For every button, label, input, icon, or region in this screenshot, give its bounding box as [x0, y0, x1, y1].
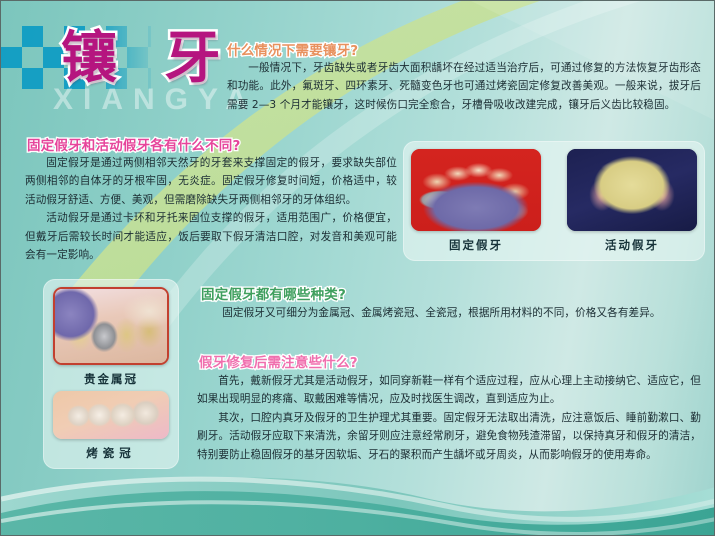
paragraph-text: 固定假牙是通过两侧相邻天然牙的牙套来支撑固定的假牙，要求缺失部位两侧相邻的自体牙… [25, 154, 397, 209]
photo-metal-crown [53, 287, 169, 365]
paragraph-text: 其次，口腔内真牙及假牙的卫生护理尤其重要。固定假牙无法取出清洗，应注意饭后、睡前… [197, 409, 701, 464]
photo-porcelain-crown [53, 391, 169, 439]
caption-fixed-denture: 固定假牙 [411, 237, 541, 253]
page-title: 镶 牙 [61, 31, 235, 87]
caption-removable-denture: 活动假牙 [567, 237, 697, 253]
photo-art [411, 149, 541, 231]
caption-metal-crown: 贵金属冠 [43, 371, 179, 387]
wave-back [1, 477, 715, 536]
paragraph-text: 固定假牙又可细分为金属冠、金属烤瓷冠、全瓷冠，根据所用材料的不同，价格又各有差异… [201, 304, 701, 322]
paragraph-text: 活动假牙是通过卡环和牙托来固位支撑的假牙，适用范围广，价格便宜，但戴牙后需较长时… [25, 209, 397, 264]
paragraph-text: 首先，戴新假牙尤其是活动假牙，如同穿新鞋一样有个适应过程，应从心理上主动接纳它、… [197, 372, 701, 409]
figure-panel-right: 固定假牙 活动假牙 [403, 141, 705, 261]
paragraph-when: 一般情况下，牙齿缺失或者牙齿大面积龋坏在经过适当治疗后，可通过修复的方法恢复牙齿… [227, 59, 701, 114]
paragraph-types: 固定假牙又可细分为金属冠、金属烤瓷冠、全瓷冠，根据所用材料的不同，价格又各有差异… [201, 304, 701, 322]
wave-line-2 [1, 502, 715, 534]
wave-mid [1, 491, 715, 536]
heading-difference: 固定假牙和活动假牙各有什么不同? [27, 134, 241, 154]
heading-types: 固定假牙都有哪些种类? [201, 283, 346, 303]
paragraph-aftercare: 首先，戴新假牙尤其是活动假牙，如同穿新鞋一样有个适应过程，应从心理上主动接纳它、… [197, 372, 701, 464]
heading-aftercare: 假牙修复后需注意些什么? [199, 351, 358, 371]
photo-art [567, 149, 697, 231]
photo-fixed-denture [411, 149, 541, 231]
paragraph-difference: 固定假牙是通过两侧相邻天然牙的牙套来支撑固定的假牙，要求缺失部位两侧相邻的自体牙… [25, 154, 397, 264]
photo-art [53, 391, 169, 439]
paragraph-text: 一般情况下，牙齿缺失或者牙齿大面积龋坏在经过适当治疗后，可通过修复的方法恢复牙齿… [227, 59, 701, 114]
wave-line-1 [1, 479, 715, 519]
heading-when: 什么情况下需要镶牙? [227, 39, 358, 59]
photo-art [55, 289, 167, 363]
photo-removable-denture [567, 149, 697, 231]
figure-panel-left: 贵金属冠 烤瓷冠 [43, 279, 179, 469]
poster-canvas: XIANGYA 镶 牙 什么情况下需要镶牙? 一般情况下，牙齿缺失或者牙齿大面积… [0, 0, 715, 536]
caption-porcelain-crown: 烤瓷冠 [43, 445, 179, 461]
